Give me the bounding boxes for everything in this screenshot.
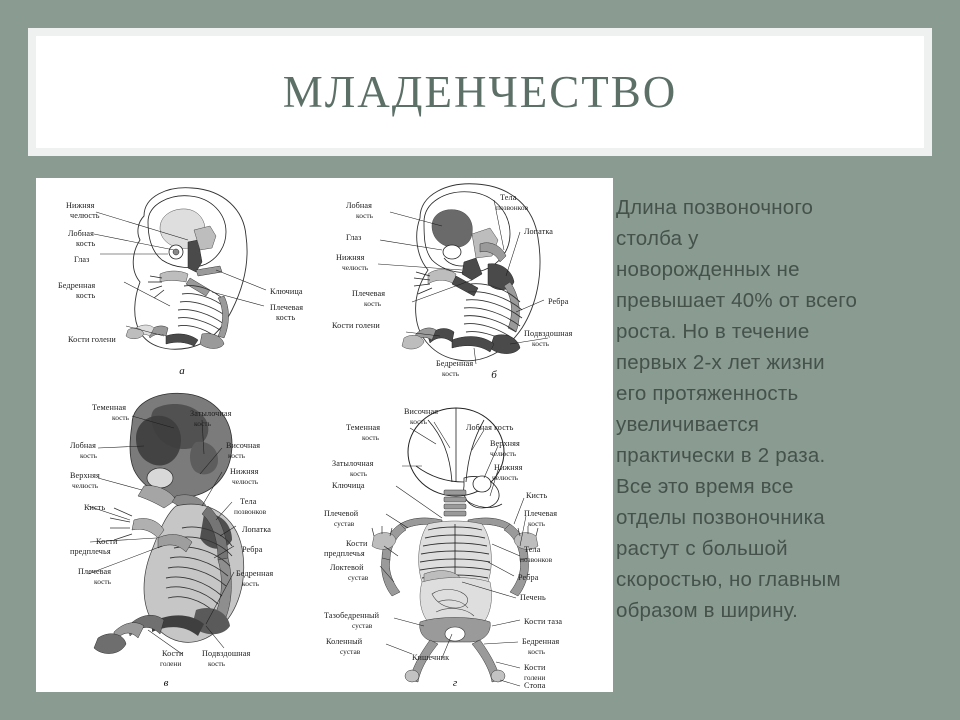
- label-plechevaya: Плечевая: [270, 303, 303, 312]
- label-stopa: Стопа: [524, 681, 546, 690]
- label-goleni: голени: [160, 659, 181, 668]
- body-line: Все это время все: [616, 471, 936, 502]
- body-line: растут с большой: [616, 533, 936, 564]
- label-kost2: кость: [364, 299, 382, 308]
- label-kost3: кость: [350, 469, 368, 478]
- label-rebra: Ребра: [242, 545, 263, 554]
- label-chelyust2: челюсть: [492, 473, 519, 482]
- label-chelyust: челюсть: [72, 481, 99, 490]
- label-tela: Тела: [500, 193, 517, 202]
- label-kist: Кисть: [526, 491, 547, 500]
- skeleton-figure-panel: Нижняя челюсть Лобная кость Глаз Бедренн…: [36, 178, 613, 692]
- label-glaz: Глаз: [74, 255, 89, 264]
- label-visochnaya: Височная: [226, 441, 260, 450]
- label-kosti-taza: Кости таза: [524, 617, 562, 626]
- page-title: МЛАДЕНЧЕСТВО: [283, 70, 677, 115]
- figure-panel-a: Нижняя челюсть Лобная кость Глаз Бедренн…: [36, 178, 324, 386]
- label-zatylochnaya: Затылочная: [190, 409, 232, 418]
- label-kost3: кость: [94, 577, 112, 586]
- label-rebra: Ребра: [518, 573, 539, 582]
- label-pozvonkov: позвонков: [520, 555, 553, 564]
- title-inner: МЛАДЕНЧЕСТВО: [36, 36, 924, 148]
- label-sustav: сустав: [334, 519, 355, 528]
- label-kost3: кость: [276, 313, 295, 322]
- label-kosti2: Кости: [524, 663, 546, 672]
- body-line: превышает 40% от всего: [616, 285, 936, 316]
- label-pozvonkov: позвонков: [234, 507, 267, 516]
- label-bedrennaya: Бедренная: [436, 359, 473, 368]
- label-kost2: кость: [76, 291, 95, 300]
- label-temennaya: Теменная: [346, 423, 380, 432]
- label-kosti: Кости: [96, 537, 118, 546]
- label-kost: кость: [356, 211, 374, 220]
- label-temennaya: Теменная: [92, 403, 126, 412]
- label-chelyust: челюсть: [490, 449, 517, 458]
- label-kost3: кость: [442, 369, 460, 378]
- body-line: отделы позвоночника: [616, 502, 936, 533]
- label-chelyust2: челюсть: [232, 477, 259, 486]
- panel-letter-c: в: [164, 677, 169, 689]
- figure-panel-b: Лобная кость Глаз Нижняя челюсть Плечева…: [324, 178, 613, 386]
- label-kost4: кость: [194, 419, 212, 428]
- label-kost: кость: [112, 413, 130, 422]
- body-line: образом в ширину.: [616, 595, 936, 626]
- fetus-skeleton-b-drawing: Лобная кость Глаз Нижняя челюсть Плечева…: [324, 178, 613, 386]
- label-nizhnyaya: Нижняя: [336, 253, 365, 262]
- label-predplechya: предплечья: [324, 549, 365, 558]
- label-pechen: Печень: [520, 593, 546, 602]
- label-kosti-goleni: Кости голени: [332, 321, 380, 330]
- infant-skeleton-d-drawing: Височная кость Теменная кость Лобная кос…: [324, 386, 613, 692]
- body-line: его протяженность: [616, 378, 936, 409]
- body-text-block: Длина позвоночного столба у новорожденны…: [616, 192, 936, 626]
- label-loktevoy: Локтевой: [330, 563, 364, 572]
- label-lopatka: Лопатка: [524, 227, 553, 236]
- label-kost2: кость: [80, 451, 98, 460]
- label-podvzdoshnaya: Подвздошная: [524, 329, 572, 338]
- figure-panel-d: Височная кость Теменная кость Лобная кос…: [324, 386, 613, 692]
- label-pozvonkov: позвонков: [496, 203, 529, 212]
- label-sustav3: сустав: [352, 621, 373, 630]
- label-lobnaya: Лобная: [346, 201, 372, 210]
- label-visochnaya: Височная: [404, 407, 438, 416]
- label-verkhnyaya: Верхняя: [70, 471, 100, 480]
- body-line: скоростью, но главным: [616, 564, 936, 595]
- panel-letter-a: а: [179, 365, 185, 377]
- label-tela: Тела: [240, 497, 257, 506]
- label-kost6: кость: [242, 579, 260, 588]
- body-line: первых 2-х лет жизни: [616, 347, 936, 378]
- body-line: увеличивается: [616, 409, 936, 440]
- label-kosti2: Кости: [162, 649, 184, 658]
- label-plechevaya: Плечевая: [78, 567, 111, 576]
- label-chelyust: челюсть: [70, 211, 100, 220]
- label-nizhnyaya: Нижняя: [66, 201, 95, 210]
- body-line: роста. Но в течение: [616, 316, 936, 347]
- label-nizhnyaya: Нижняя: [494, 463, 523, 472]
- figure-panel-c: Теменная кость Лобная кость Верхняя челю…: [36, 386, 324, 692]
- label-kost: кость: [76, 239, 95, 248]
- label-bedrennaya: Бедренная: [58, 281, 95, 290]
- label-lopatka: Лопатка: [242, 525, 271, 534]
- label-glaz: Глаз: [346, 233, 361, 242]
- fetus-skeleton-a-drawing: Нижняя челюсть Лобная кость Глаз Бедренн…: [36, 178, 324, 386]
- label-verkhnyaya: Верхняя: [490, 439, 520, 448]
- label-kist: Кисть: [84, 503, 105, 512]
- label-predplechya: предплечья: [70, 547, 111, 556]
- label-kost: кость: [410, 417, 428, 426]
- label-tazobedrennyy: Тазобедренный: [324, 611, 380, 620]
- label-tela: Тела: [524, 545, 541, 554]
- label-lobnaya-kost: Лобная кость: [466, 423, 514, 432]
- label-chelyust: челюсть: [342, 263, 369, 272]
- panel-letter-d: г: [453, 677, 458, 689]
- body-line: практически в 2 раза.: [616, 440, 936, 471]
- label-bedrennaya: Бедренная: [522, 637, 559, 646]
- body-line: новорожденных не: [616, 254, 936, 285]
- label-sustav2: сустав: [348, 573, 369, 582]
- title-frame: МЛАДЕНЧЕСТВО: [28, 28, 932, 156]
- label-zatylochnaya: Затылочная: [332, 459, 374, 468]
- label-nizhnyaya: Нижняя: [230, 467, 259, 476]
- label-kost5: кость: [228, 451, 246, 460]
- label-kost7: кость: [208, 659, 226, 668]
- label-plechevoy: Плечевой: [324, 509, 359, 518]
- panel-letter-b: б: [491, 369, 497, 381]
- label-bedrennaya: Бедренная: [236, 569, 273, 578]
- label-lobnaya: Лобная: [68, 229, 94, 238]
- label-kosti-goleni: Кости голени: [68, 335, 116, 344]
- label-kost4: кость: [532, 339, 550, 348]
- label-kost4: кость: [528, 519, 546, 528]
- label-podvzdoshnaya: Подвздошная: [202, 649, 250, 658]
- label-klyuchitsa: Ключица: [270, 287, 303, 296]
- label-klyuchitsa: Ключица: [332, 481, 365, 490]
- label-plechevaya: Плечевая: [352, 289, 385, 298]
- label-plechevaya: Плечевая: [524, 509, 557, 518]
- label-rebra: Ребра: [548, 297, 569, 306]
- label-kolennyy: Коленный: [326, 637, 363, 646]
- label-kishechnik: Кишечник: [412, 653, 449, 662]
- label-kosti: Кости: [346, 539, 368, 548]
- label-lobnaya: Лобная: [70, 441, 96, 450]
- label-kost2: кость: [362, 433, 380, 442]
- label-sustav4: сустав: [340, 647, 361, 656]
- body-line: Длина позвоночного: [616, 192, 936, 223]
- label-kost5: кость: [528, 647, 546, 656]
- body-line: столба у: [616, 223, 936, 254]
- fetus-skeleton-c-photo: Теменная кость Лобная кость Верхняя челю…: [36, 386, 324, 692]
- slide-root: МЛАДЕНЧЕСТВО Длина позвоночного столба у…: [0, 0, 960, 720]
